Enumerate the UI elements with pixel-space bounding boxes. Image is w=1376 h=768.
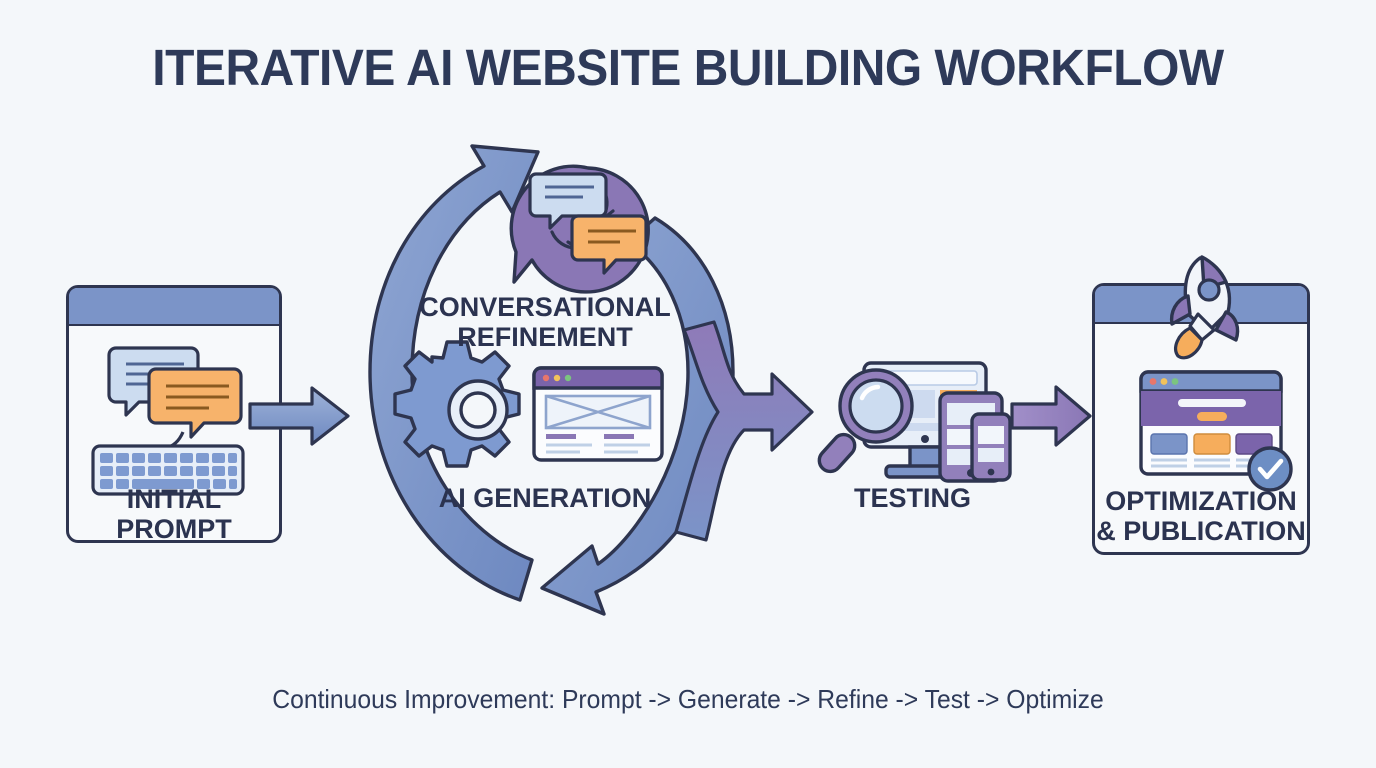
chat-bubble-orange-icon [572, 216, 646, 273]
stage-card-optimization-publication[interactable]: OPTIMIZATION & PUBLICATION [1092, 283, 1310, 555]
stage-label-optimization: OPTIMIZATION [1095, 486, 1307, 516]
stage-label-initial-prompt: INITIAL PROMPT [69, 484, 279, 544]
initial-prompt-art [71, 336, 281, 486]
tablet-icon [940, 393, 1002, 481]
stage-card-initial-prompt[interactable]: INITIAL PROMPT [66, 285, 282, 543]
desktop-monitor-icon [864, 363, 986, 477]
check-badge-icon [1249, 448, 1291, 490]
footer-caption: Continuous Improvement: Prompt -> Genera… [34, 684, 1341, 715]
chat-bubble-blue-icon [530, 174, 606, 228]
stage-label-conversational-refinement-text: CONVERSATIONALREFINEMENT [385, 292, 705, 352]
speech-cluster-purple-icon [511, 166, 648, 292]
browser-title-bar [1095, 286, 1307, 324]
stage-label-testing: TESTING [790, 483, 1035, 513]
arrow-testing-to-final [1012, 387, 1090, 445]
testing-devices-art [815, 363, 1010, 481]
gear-icon [395, 342, 519, 466]
cycle-loop [370, 146, 733, 614]
workflow-diagram: ITERATIVE AI WEBSITE BUILDING WORKFLOW [0, 0, 1376, 768]
browser-wireframe-icon [534, 368, 662, 460]
stage-label-conversational-refinement: CONVERSATIONALREFINEMENT [385, 292, 705, 352]
page-title: ITERATIVE AI WEBSITE BUILDING WORKFLOW [41, 38, 1334, 97]
stage-label-publication: & PUBLICATION [1095, 516, 1307, 546]
stage-label-ai-generation: AI GENERATION [385, 483, 705, 513]
chat-bubble-orange-icon [149, 369, 241, 437]
phone-icon [972, 414, 1010, 480]
magnifier-icon [815, 370, 912, 476]
published-site-art [1103, 364, 1303, 494]
browser-title-bar [69, 288, 279, 326]
